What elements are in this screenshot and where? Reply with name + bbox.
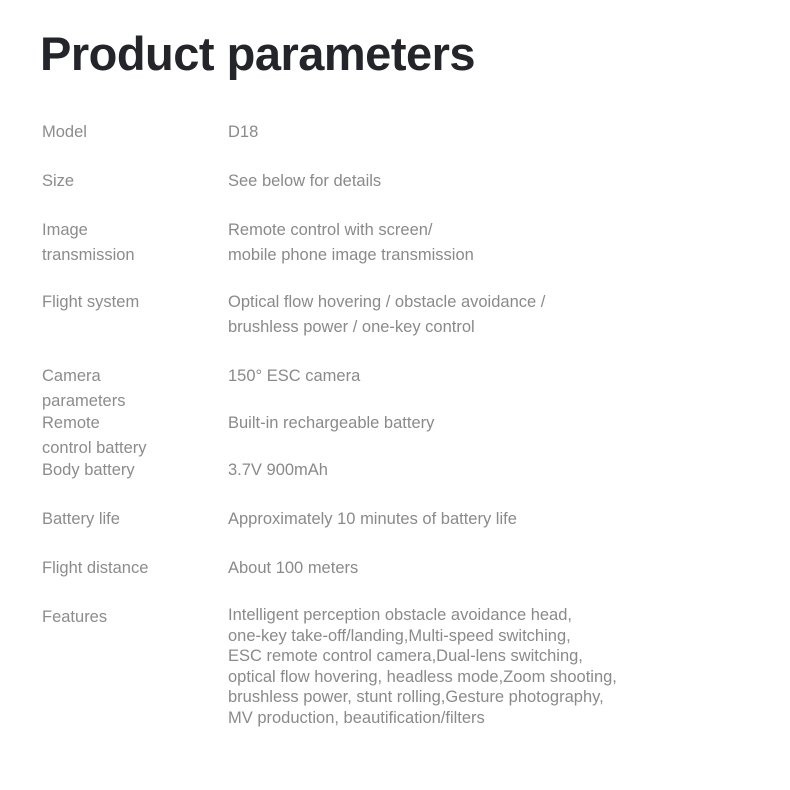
spec-value-line: Remote control with screen/ bbox=[228, 218, 690, 243]
spec-row: ModelD18 bbox=[0, 120, 790, 169]
spec-value-line: brushless power, stunt rolling,Gesture p… bbox=[228, 687, 690, 708]
product-parameters-page: Product parameters ModelD18SizeSee below… bbox=[0, 0, 790, 790]
spec-value-line: ESC remote control camera,Dual-lens swit… bbox=[228, 646, 690, 667]
spec-label-line: transmission bbox=[42, 243, 212, 268]
spec-label: Features bbox=[42, 605, 212, 630]
spec-label: Model bbox=[42, 120, 212, 145]
spec-label-line: Camera bbox=[42, 364, 212, 389]
spec-value: Remote control with screen/mobile phone … bbox=[228, 218, 790, 268]
spec-label: Battery life bbox=[42, 507, 212, 532]
spec-value: D18 bbox=[228, 120, 790, 145]
spec-row: Body battery3.7V 900mAh bbox=[0, 458, 790, 507]
spec-row: Flight systemOptical flow hovering / obs… bbox=[0, 290, 790, 364]
spec-value-line: Optical flow hovering / obstacle avoidan… bbox=[228, 290, 690, 315]
spec-value-line: Built-in rechargeable battery bbox=[228, 411, 690, 436]
spec-row: SizeSee below for details bbox=[0, 169, 790, 218]
spec-value-line: mobile phone image transmission bbox=[228, 243, 690, 268]
spec-value-line: brushless power / one-key control bbox=[228, 315, 690, 340]
spec-value: 3.7V 900mAh bbox=[228, 458, 790, 483]
spec-value-line: MV production, beautification/filters bbox=[228, 708, 690, 729]
spec-label: Imagetransmission bbox=[42, 218, 212, 268]
spec-row: Battery lifeApproximately 10 minutes of … bbox=[0, 507, 790, 556]
spec-value-line: Intelligent perception obstacle avoidanc… bbox=[228, 605, 690, 626]
spec-row: Remotecontrol batteryBuilt-in rechargeab… bbox=[0, 411, 790, 458]
spec-value: About 100 meters bbox=[228, 556, 790, 581]
spec-label-line: Image bbox=[42, 218, 212, 243]
specification-list: ModelD18SizeSee below for detailsImagetr… bbox=[0, 120, 790, 729]
spec-label: Flight distance bbox=[42, 556, 212, 581]
spec-row: Flight distanceAbout 100 meters bbox=[0, 556, 790, 605]
spec-label: Size bbox=[42, 169, 212, 194]
spec-value-line: About 100 meters bbox=[228, 556, 690, 581]
spec-label-line: Remote bbox=[42, 411, 212, 436]
spec-value: 150° ESC camera bbox=[228, 364, 790, 389]
spec-row: ImagetransmissionRemote control with scr… bbox=[0, 218, 790, 290]
spec-value: Optical flow hovering / obstacle avoidan… bbox=[228, 290, 790, 340]
spec-value: Built-in rechargeable battery bbox=[228, 411, 790, 436]
spec-value-line: optical flow hovering, headless mode,Zoo… bbox=[228, 667, 690, 688]
spec-value-line: Approximately 10 minutes of battery life bbox=[228, 507, 690, 532]
page-title: Product parameters bbox=[40, 28, 475, 80]
spec-label: Body battery bbox=[42, 458, 212, 483]
spec-label: Remotecontrol battery bbox=[42, 411, 212, 461]
spec-value: Intelligent perception obstacle avoidanc… bbox=[228, 605, 790, 729]
spec-value-line: D18 bbox=[228, 120, 690, 145]
spec-value: See below for details bbox=[228, 169, 790, 194]
spec-value-line: 150° ESC camera bbox=[228, 364, 690, 389]
spec-row: FeaturesIntelligent perception obstacle … bbox=[0, 605, 790, 729]
spec-value: Approximately 10 minutes of battery life bbox=[228, 507, 790, 532]
spec-label: Cameraparameters bbox=[42, 364, 212, 414]
spec-value-line: 3.7V 900mAh bbox=[228, 458, 690, 483]
spec-row: Cameraparameters150° ESC camera bbox=[0, 364, 790, 411]
spec-value-line: one-key take-off/landing,Multi-speed swi… bbox=[228, 626, 690, 647]
spec-label: Flight system bbox=[42, 290, 212, 315]
spec-value-line: See below for details bbox=[228, 169, 690, 194]
